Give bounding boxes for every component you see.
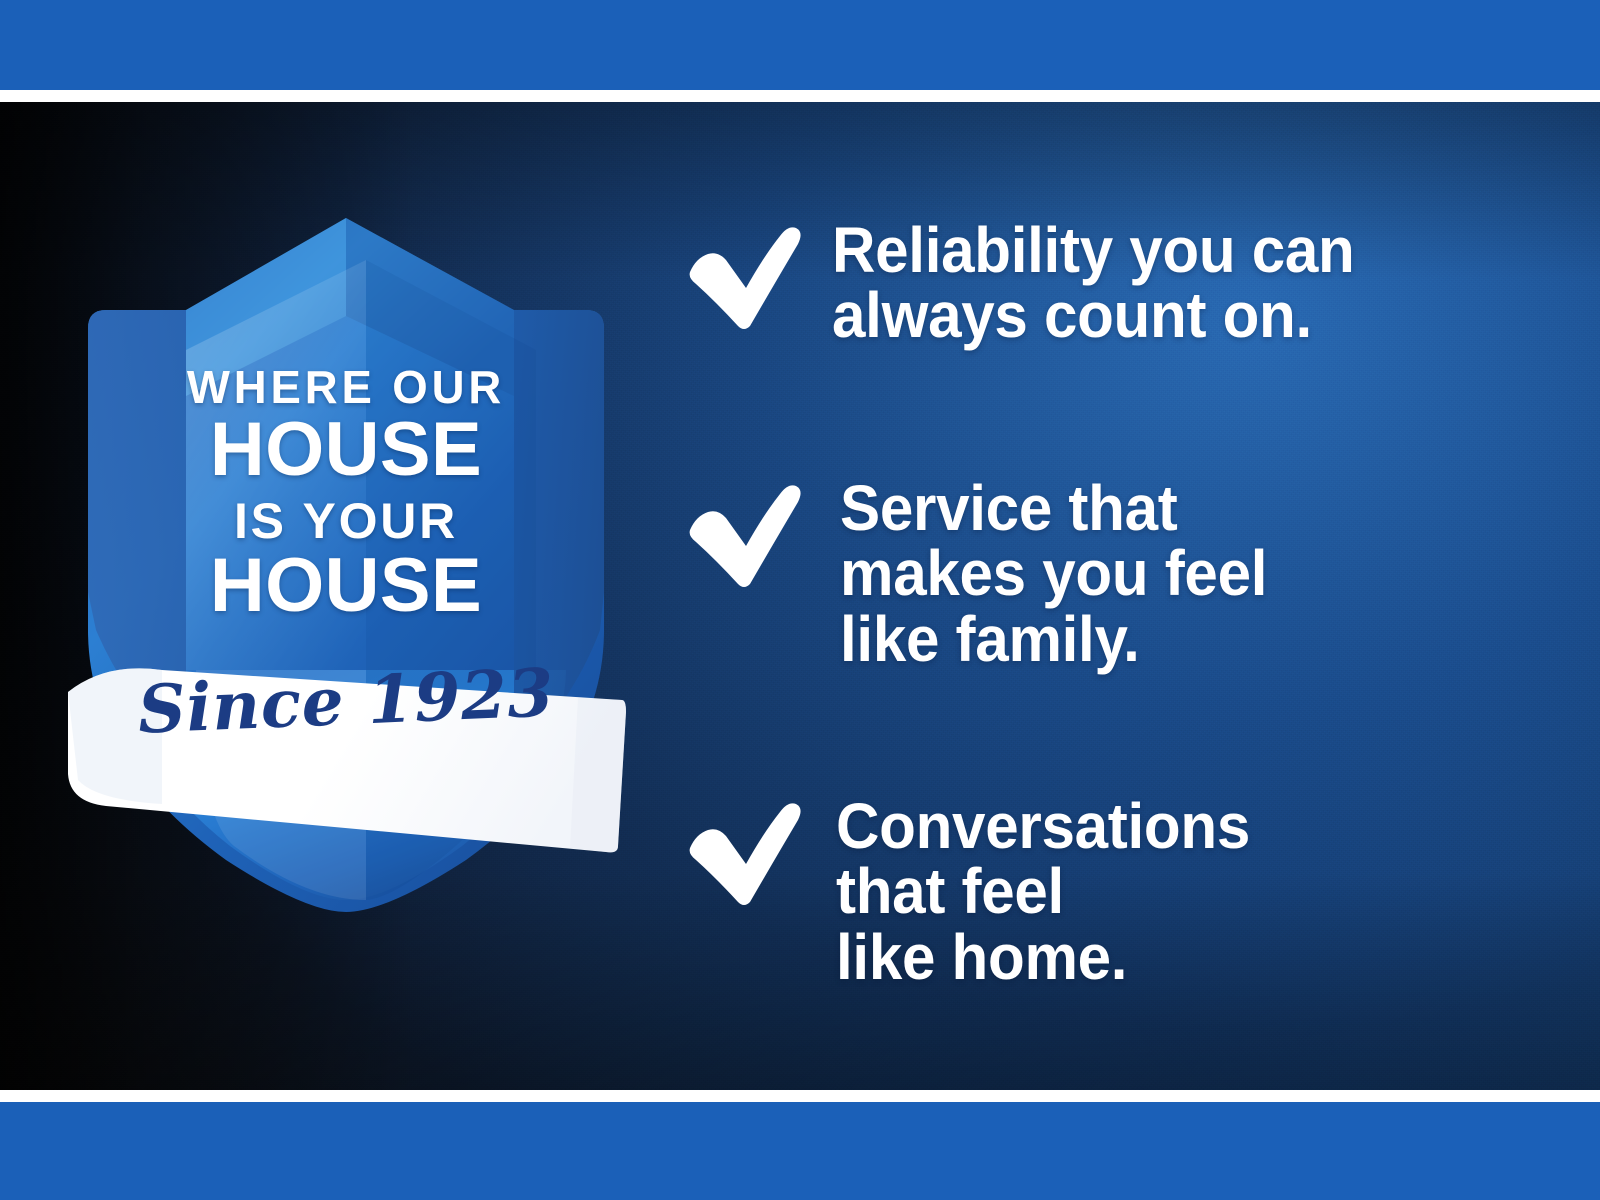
badge-line-4: HOUSE (66, 548, 626, 624)
list-item: Conversations that feel like home. (672, 790, 1276, 990)
list-item: Service that makes you feel like family. (672, 472, 1294, 672)
list-item-label: Service that makes you feel like family. (840, 472, 1267, 672)
promo-poster: WHERE OUR HOUSE IS YOUR HOUSE Since 1923… (0, 0, 1600, 1200)
badge-line-1: WHERE OUR (69, 364, 623, 410)
shield-badge: WHERE OUR HOUSE IS YOUR HOUSE Since 1923 (66, 200, 626, 920)
list-item: Reliability you can always count on. (672, 214, 1388, 349)
list-item-label: Conversations that feel like home. (836, 790, 1250, 990)
checkmark-icon (672, 790, 804, 908)
checkmark-icon (672, 214, 804, 332)
bottom-white-rule (0, 1090, 1600, 1102)
top-white-rule (0, 90, 1600, 102)
badge-line-3: IS YOUR (66, 496, 626, 546)
list-item-label: Reliability you can always count on. (832, 214, 1355, 349)
checkmark-icon (672, 472, 804, 590)
badge-line-2: HOUSE (66, 412, 626, 488)
top-brand-band (0, 0, 1600, 90)
bottom-brand-band (0, 1102, 1600, 1200)
